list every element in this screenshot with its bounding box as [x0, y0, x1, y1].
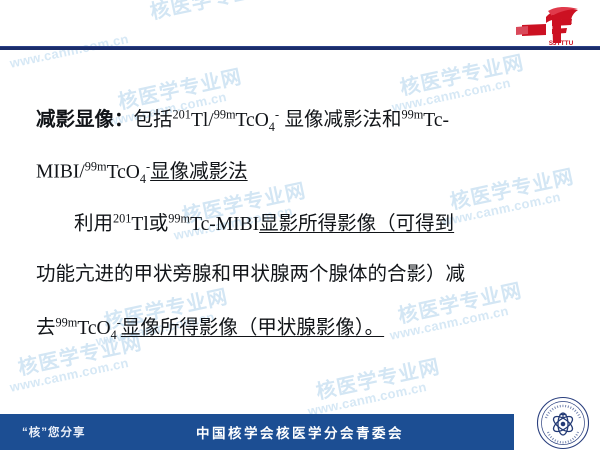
tco4-mass: 99m [56, 315, 78, 329]
body-line-5: 去99mTcO4-显像所得影像（甲状腺影像）。 [0, 316, 600, 342]
line5-text-1: 去 [36, 317, 56, 339]
line3-text-3: 显影所得影像（可得到 [259, 213, 454, 235]
line1-text-1: 包括 [134, 109, 173, 131]
line1-isotope-tc99m: 99mTc- [401, 110, 449, 131]
line1-isotope-tco4: 99mTcO4- [214, 110, 279, 131]
line3-text-1: 利用 [74, 213, 113, 235]
slide-body: 减影显像：包括201Tl/99mTcO4- 显像减影法和99mTc- MIBI/… [0, 52, 600, 400]
tl201-mass: 201 [173, 107, 191, 121]
line3-isotope-tl201: 201Tl [113, 214, 149, 235]
line4-text: 功能亢进的甲状旁腺和甲状腺两个腺体的合影）减 [36, 263, 465, 285]
tc99m-element: Tc- [423, 110, 449, 131]
line3-text-2: 或 [149, 213, 169, 235]
line2-mibi-label: MIBI/ [36, 162, 85, 183]
line1-heading: 减影显像： [36, 109, 134, 131]
body-line-4: 功能亢进的甲状旁腺和甲状腺两个腺体的合影）减 [0, 264, 600, 285]
tl201-element: Tl/ [191, 110, 214, 131]
tl201-mass: 201 [113, 211, 131, 225]
logo-subtext: SJTTTU [549, 40, 574, 46]
tco4-count: 4 [140, 171, 146, 185]
slide-header: SJTTTU [0, 0, 600, 52]
tc99m-mass: 99m [214, 107, 236, 121]
tc99m-mibi-element: Tc-MIBI [190, 214, 259, 235]
slide-footer: 中国核学会核医学分会青委会 “核”您分享 [0, 414, 600, 450]
line5-text-2: 显像所得影像（甲状腺影像）。 [121, 317, 384, 339]
body-line-1: 减影显像：包括201Tl/99mTcO4- 显像减影法和99mTc- [0, 108, 600, 134]
tco4-element: TcO [107, 162, 140, 183]
tco4-element: TcO [236, 110, 269, 131]
header-divider [0, 46, 600, 50]
line3-isotope-tc99m-mibi: 99mTc-MIBI [168, 214, 259, 235]
line2-text-1: 显像减影法 [150, 161, 248, 183]
sjttu-f-logo-icon: SJTTTU [512, 6, 586, 46]
line1-text-2: 显像减影法和 [279, 109, 401, 131]
tc99m-mass-2: 99m [401, 107, 423, 121]
line1-isotope-tl201: 201Tl/ [173, 110, 214, 131]
line2-isotope-tco4: 99mTcO4- [85, 162, 150, 183]
line5-isotope-tco4: 99mTcO4- [56, 318, 121, 339]
body-line-3: 利用201Tl或99mTc-MIBI显影所得影像（可得到 [0, 212, 600, 235]
footer-organization: 中国核学会核医学分会青委会 [0, 422, 600, 442]
tl201-element: Tl [131, 214, 148, 235]
society-seal-icon [536, 396, 590, 450]
footer-tagline: “核”您分享 [22, 424, 86, 440]
tc99m-mass: 99m [168, 211, 190, 225]
body-line-2: MIBI/99mTcO4-显像减影法 [0, 160, 600, 186]
tco4-mass: 99m [85, 159, 107, 173]
tco4-element: TcO [77, 318, 110, 339]
tco4-count: 4 [269, 119, 275, 133]
tco4-count: 4 [111, 327, 117, 341]
